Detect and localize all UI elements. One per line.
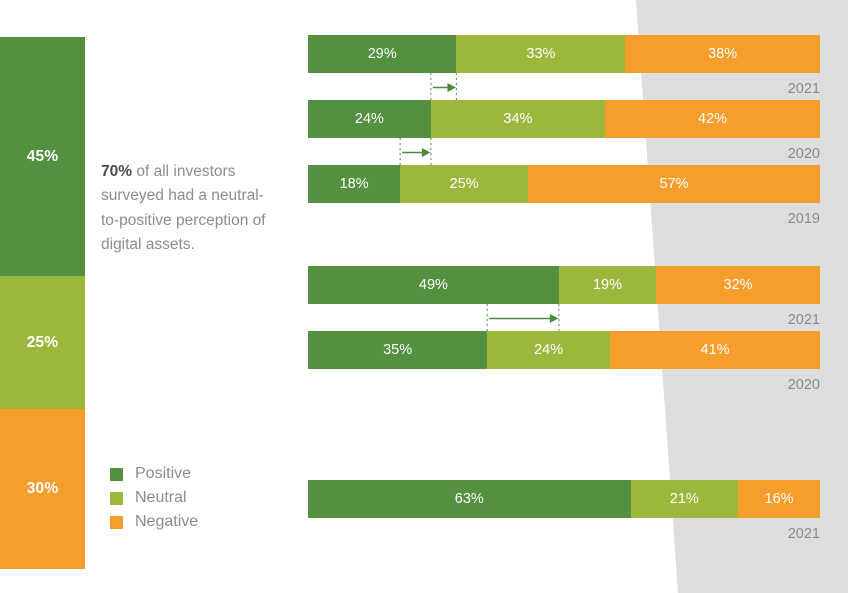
bar-segment-label: 25% (450, 176, 479, 192)
bar-segment-positive: 18% (308, 165, 400, 203)
bar-segment-negative: 42% (605, 100, 820, 138)
bar-segment-label: 29% (368, 46, 397, 62)
year-label: 2020 (308, 377, 820, 393)
bar-row-group-2-2020: 35%24%41% (308, 331, 820, 369)
bar-segment-neutral: 21% (631, 480, 739, 518)
bar-row-group-3-2021: 63%21%16% (308, 480, 820, 518)
year-label: 2019 (308, 211, 820, 227)
bar-segment-label: 57% (660, 176, 689, 192)
bar-segment-negative: 32% (656, 266, 820, 304)
bar-segment-label: 42% (698, 111, 727, 127)
bar-segment-neutral: 19% (559, 266, 656, 304)
bar-segment-positive: 24% (308, 100, 431, 138)
bar-segment-label: 24% (355, 111, 384, 127)
bar-segment-negative: 41% (610, 331, 820, 369)
bar-segment-label: 41% (701, 342, 730, 358)
bar-segment-label: 35% (383, 342, 412, 358)
bar-segment-label: 34% (503, 111, 532, 127)
bar-segment-label: 32% (724, 277, 753, 293)
bar-row-group-1-2020: 24%34%42% (308, 100, 820, 138)
bar-segment-negative: 57% (528, 165, 820, 203)
bar-segment-label: 16% (765, 491, 794, 507)
bar-segment-positive: 35% (308, 331, 487, 369)
bar-segment-positive: 63% (308, 480, 631, 518)
bar-row-group-1-2021: 29%33%38% (308, 35, 820, 73)
bar-segment-positive: 29% (308, 35, 456, 73)
growth-arrow (308, 73, 820, 100)
bar-segment-label: 63% (455, 491, 484, 507)
bar-segment-label: 19% (593, 277, 622, 293)
growth-arrow (308, 138, 820, 165)
year-label: 2021 (308, 526, 820, 542)
bar-segment-label: 33% (526, 46, 555, 62)
bar-segment-neutral: 33% (456, 35, 625, 73)
bar-row-group-2-2021: 49%19%32% (308, 266, 820, 304)
bar-segment-negative: 16% (738, 480, 820, 518)
bar-segment-label: 38% (708, 46, 737, 62)
bar-segment-label: 24% (534, 342, 563, 358)
bar-segment-label: 21% (670, 491, 699, 507)
bar-segment-negative: 38% (625, 35, 820, 73)
bar-segment-label: 49% (419, 277, 448, 293)
bar-chart-area: 29%33%38%202124%34%42%202018%25%57%20194… (0, 0, 848, 593)
bar-row-group-1-2019: 18%25%57% (308, 165, 820, 203)
growth-arrow (308, 304, 820, 331)
bar-segment-label: 18% (340, 176, 369, 192)
bar-segment-neutral: 34% (431, 100, 605, 138)
bar-segment-neutral: 25% (400, 165, 528, 203)
bar-segment-neutral: 24% (487, 331, 610, 369)
bar-segment-positive: 49% (308, 266, 559, 304)
